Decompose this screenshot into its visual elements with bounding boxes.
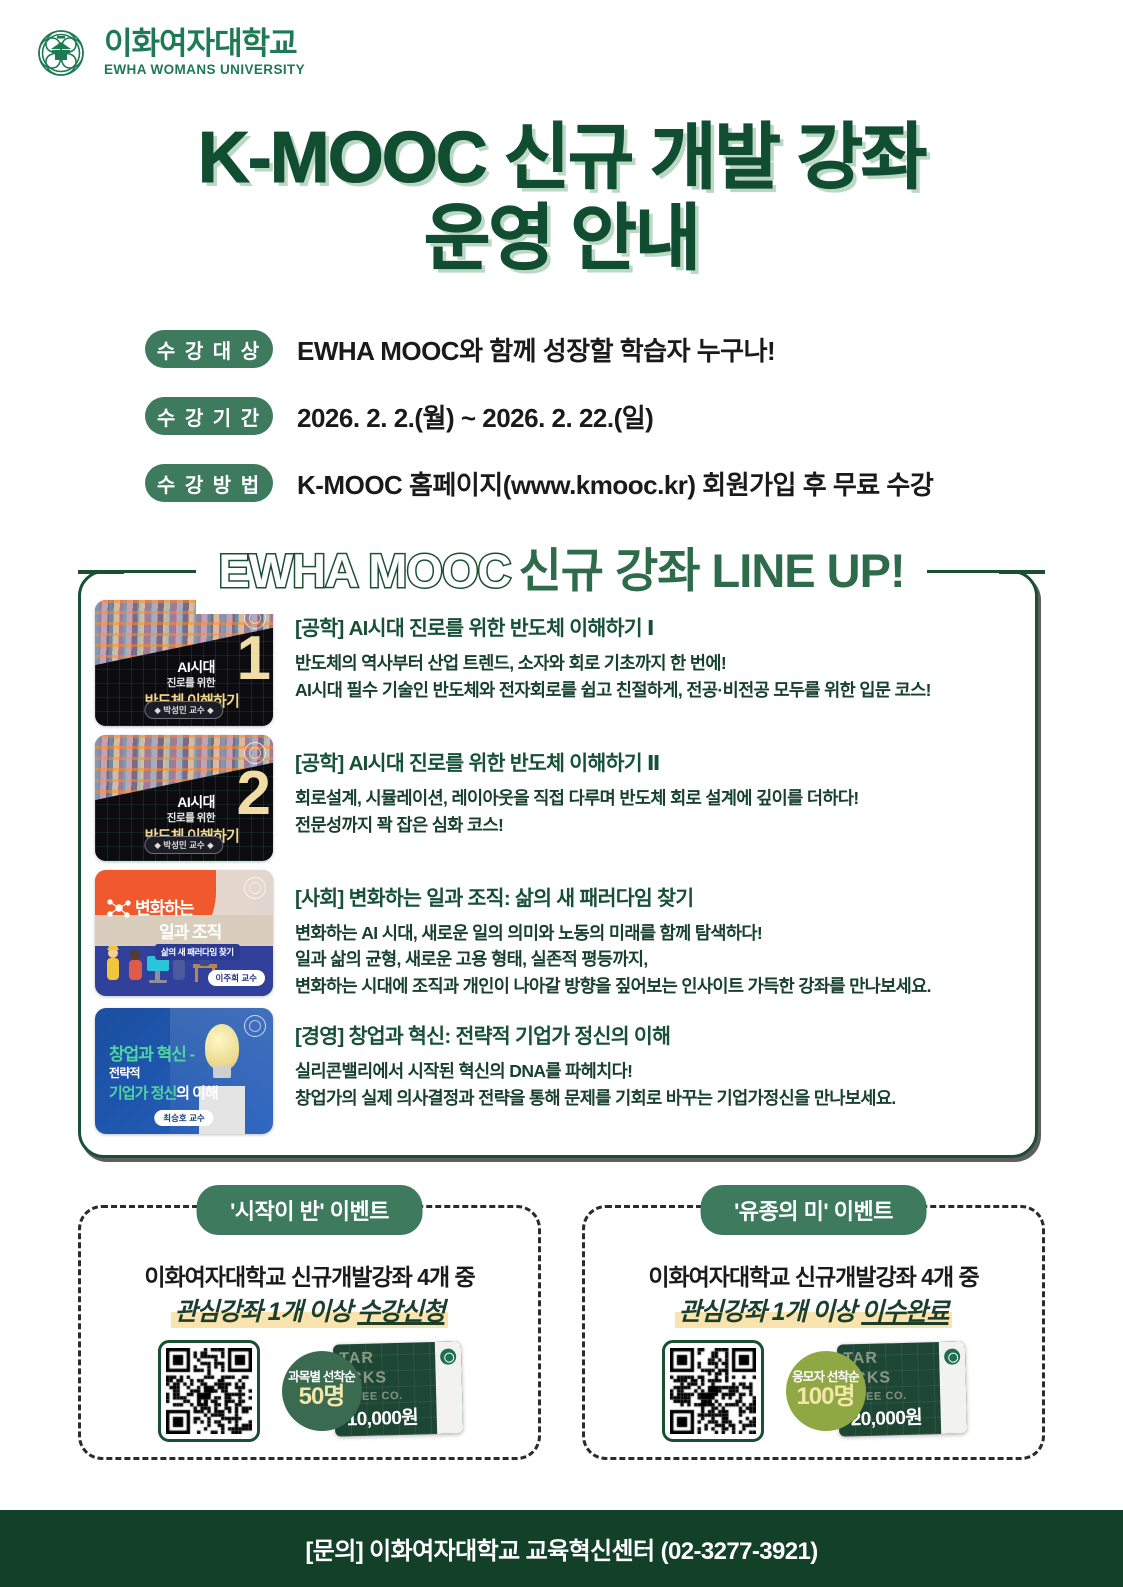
info-label-period: 수 강 기 간 bbox=[145, 397, 273, 435]
ewha-seal-icon bbox=[30, 22, 92, 84]
lineup-heading-outline: EWHA MOOC bbox=[218, 544, 510, 597]
course-thumbnail: 1 AI시대 진로를 위한 반도체 이해하기 ◆ 박성민 교수 ◆ bbox=[95, 600, 273, 726]
course-list: 1 AI시대 진로를 위한 반도체 이해하기 ◆ 박성민 교수 ◆ [공학] A… bbox=[95, 600, 1025, 1143]
course-thumbnail: 2 AI시대 진로를 위한 반도체 이해하기 ◆ 박성민 교수 ◆ bbox=[95, 735, 273, 861]
quota-count: 100명 bbox=[796, 1383, 854, 1411]
thumb-line-1: 창업과 혁신 - bbox=[109, 1040, 194, 1065]
thumb-line-2: 일과 조직 bbox=[159, 918, 221, 943]
info-list: 수 강 대 상 EWHA MOOC와 함께 성장할 학습자 누구나! 수 강 기… bbox=[145, 328, 1005, 529]
course-thumbnail: 변화하는 일과 조직 삶의 새 패러다임 찾기 이주희 교수 bbox=[95, 870, 273, 996]
lineup-heading-solid: 신규 강좌 LINE UP! bbox=[518, 544, 904, 597]
thumb-line-2: 진로를 위한 bbox=[167, 675, 215, 690]
title-line-1: K-MOOC 신규 개발 강좌 bbox=[0, 118, 1123, 199]
course-item[interactable]: 변화하는 일과 조직 삶의 새 패러다임 찾기 이주희 교수 [사회] 변화하는… bbox=[95, 870, 1025, 999]
course-desc-line: 일과 삶의 균형, 새로운 고용 형태, 실존적 평등까지, bbox=[295, 946, 1025, 972]
course-title: [공학] AI시대 진로를 위한 반도체 이해하기 Ⅱ bbox=[295, 746, 1025, 776]
course-title: [공학] AI시대 진로를 위한 반도체 이해하기 Ⅰ bbox=[295, 611, 1025, 641]
course-desc-line: 실리콘밸리에서 시작된 혁신의 DNA를 파헤치다! bbox=[295, 1058, 1025, 1085]
thumb-line-1: AI시대 bbox=[177, 792, 215, 812]
poster-root: 이화여자대학교 EWHA WOMANS UNIVERSITY K-MOOC 신규… bbox=[0, 0, 1123, 1587]
thumb-line-3a: 기업가 정신 bbox=[109, 1085, 176, 1102]
info-row-method: 수 강 방 법 K-MOOC 홈페이지(www.kmooc.kr) 회원가입 후… bbox=[145, 462, 1005, 504]
course-title: [경영] 창업과 혁신: 전략적 기업가 정신의 이해 bbox=[295, 1019, 1025, 1049]
event-section: '시작이 반' 이벤트 이화여자대학교 신규개발강좌 4개 중 관심강좌 1개 … bbox=[78, 1205, 1045, 1460]
starbucks-logo-icon bbox=[943, 1348, 959, 1364]
event-line-2-underline: 수강신청 bbox=[357, 1298, 444, 1326]
quota-count: 50명 bbox=[299, 1383, 345, 1411]
event-line-1: 이화여자대학교 신규개발강좌 4개 중 bbox=[585, 1258, 1042, 1292]
thumb-professor: ◆ 박성민 교수 ◆ bbox=[144, 836, 223, 854]
event-line-1: 이화여자대학교 신규개발강좌 4개 중 bbox=[81, 1258, 538, 1292]
molecule-icon bbox=[107, 896, 131, 920]
thumb-professor: 최승호 교수 bbox=[154, 1110, 213, 1126]
info-value-method: K-MOOC 홈페이지(www.kmooc.kr) 회원가입 후 무료 수강 bbox=[297, 465, 933, 502]
qr-code-icon[interactable] bbox=[158, 1340, 260, 1442]
event-title-badge: '시작이 반' 이벤트 bbox=[196, 1185, 423, 1235]
info-label-target: 수 강 대 상 bbox=[145, 330, 273, 368]
lightbulb-icon bbox=[205, 1024, 239, 1070]
info-label-method: 수 강 방 법 bbox=[145, 464, 273, 502]
thumb-number: 1 bbox=[237, 628, 267, 690]
thumb-professor: ◆ 박성민 교수 ◆ bbox=[144, 701, 223, 719]
course-desc-line: 변화하는 시대에 조직과 개인이 나아갈 방향을 짚어보는 인사이트 가득한 강… bbox=[295, 973, 1025, 999]
info-row-target: 수 강 대 상 EWHA MOOC와 함께 성장할 학습자 누구나! bbox=[145, 328, 1005, 370]
ewha-seal-icon bbox=[244, 742, 266, 764]
event-box-start: '시작이 반' 이벤트 이화여자대학교 신규개발강좌 4개 중 관심강좌 1개 … bbox=[78, 1205, 541, 1460]
course-desc-line: 창업가의 실제 의사결정과 전략을 통해 문제를 기회로 바꾸는 기업가정신을 … bbox=[295, 1085, 1025, 1112]
event-line-2-prefix: 관심강좌 1개 이상 bbox=[175, 1298, 358, 1326]
logo-english-name: EWHA WOMANS UNIVERSITY bbox=[104, 62, 305, 78]
event-box-finish: '유종의 미' 이벤트 이화여자대학교 신규개발강좌 4개 중 관심강좌 1개 … bbox=[582, 1205, 1045, 1460]
info-value-period: 2026. 2. 2.(월) ~ 2026. 2. 22.(일) bbox=[297, 398, 653, 435]
course-item[interactable]: 1 AI시대 진로를 위한 반도체 이해하기 ◆ 박성민 교수 ◆ [공학] A… bbox=[95, 600, 1025, 726]
course-title: [사회] 변화하는 일과 조직: 삶의 새 패러다임 찾기 bbox=[295, 881, 1025, 911]
event-line-2: 관심강좌 1개 이상 이수완료 bbox=[675, 1292, 953, 1328]
footer-bar: [문의] 이화여자대학교 교육혁신센터 (02-3277-3921) bbox=[0, 1510, 1123, 1587]
thumb-line-1: 변화하는 bbox=[135, 894, 194, 919]
info-row-period: 수 강 기 간 2026. 2. 2.(월) ~ 2026. 2. 22.(일) bbox=[145, 395, 1005, 437]
starbucks-logo-icon bbox=[439, 1348, 455, 1364]
footer-contact: [문의] 이화여자대학교 교육혁신센터 (02-3277-3921) bbox=[305, 1531, 817, 1566]
event-line-2-prefix: 관심강좌 1개 이상 bbox=[679, 1298, 862, 1326]
gift-reward: TAR UCKS OFFEE CO. 10,000원 과목별 선착순 50명 bbox=[282, 1343, 462, 1439]
thumb-number: 2 bbox=[237, 763, 267, 825]
ewha-seal-icon bbox=[244, 877, 266, 899]
logo-korean-name: 이화여자대학교 bbox=[104, 28, 305, 61]
thumb-line-3: 삶의 새 패러다임 찾기 bbox=[155, 944, 240, 960]
course-desc-line: 전문성까지 꽉 잡은 심화 코스! bbox=[295, 812, 1025, 839]
university-logo: 이화여자대학교 EWHA WOMANS UNIVERSITY bbox=[30, 22, 305, 84]
title-line-2: 운영 안내 bbox=[0, 199, 1123, 280]
course-thumbnail: 창업과 혁신 - 전략적 기업가 정신의 이해 최승호 교수 bbox=[95, 1008, 273, 1134]
thumb-line-2: 진로를 위한 bbox=[167, 810, 215, 825]
quota-caption: 과목별 선착순 bbox=[288, 1371, 355, 1384]
lineup-heading: EWHA MOOC신규 강좌 LINE UP! bbox=[0, 540, 1123, 602]
thumb-professor: 이주희 교수 bbox=[208, 970, 265, 986]
poster-title: K-MOOC 신규 개발 강좌 운영 안내 bbox=[0, 118, 1123, 279]
course-desc-line: AI시대 필수 기술인 반도체와 전자회로를 쉽고 친절하게, 전공·비전공 모… bbox=[295, 677, 1025, 704]
course-desc-line: 반도체의 역사부터 산업 트렌드, 소자와 회로 기초까지 한 번에! bbox=[295, 650, 1025, 677]
qr-code-icon[interactable] bbox=[662, 1340, 764, 1442]
course-desc-line: 회로설계, 시뮬레이션, 레이아웃을 직접 다루며 반도체 회로 설계에 깊이를… bbox=[295, 785, 1025, 812]
thumb-line-3: 기업가 정신의 이해 bbox=[109, 1082, 218, 1103]
thumb-line-2: 전략적 bbox=[109, 1064, 140, 1081]
thumb-line-1: AI시대 bbox=[177, 657, 215, 677]
event-title-badge: '유종의 미' 이벤트 bbox=[700, 1185, 927, 1235]
course-desc-line: 변화하는 AI 시대, 새로운 일의 의미와 노동의 미래를 함께 탐색하다! bbox=[295, 920, 1025, 946]
event-line-2: 관심강좌 1개 이상 수강신청 bbox=[171, 1292, 449, 1328]
gift-reward: TAR UCKS OFFEE CO. 20,000원 응모자 선착순 100명 bbox=[786, 1343, 966, 1439]
course-item[interactable]: 창업과 혁신 - 전략적 기업가 정신의 이해 최승호 교수 [경영] 창업과 … bbox=[95, 1008, 1025, 1134]
quota-caption: 응모자 선착순 bbox=[792, 1371, 859, 1384]
quota-circle: 과목별 선착순 50명 bbox=[282, 1351, 362, 1431]
event-line-2-underline: 이수완료 bbox=[861, 1298, 948, 1326]
quota-circle: 응모자 선착순 100명 bbox=[786, 1351, 866, 1431]
course-item[interactable]: 2 AI시대 진로를 위한 반도체 이해하기 ◆ 박성민 교수 ◆ [공학] A… bbox=[95, 735, 1025, 861]
thumb-line-3b: 의 이해 bbox=[176, 1085, 218, 1102]
info-value-target: EWHA MOOC와 함께 성장할 학습자 누구나! bbox=[297, 331, 775, 368]
ewha-seal-icon bbox=[244, 1015, 266, 1037]
